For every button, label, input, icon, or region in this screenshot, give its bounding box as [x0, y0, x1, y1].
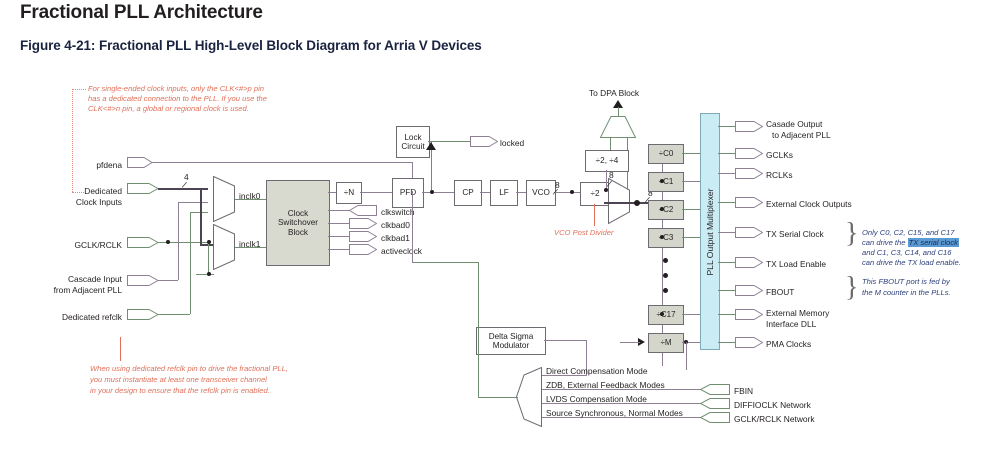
- wire-out-2: [718, 173, 736, 174]
- wire-refclk-v: [190, 212, 191, 314]
- port-clkbad0: [349, 218, 377, 229]
- label-locked: locked: [500, 138, 524, 148]
- note-counters-l4: can drive the TX load enable.: [862, 258, 961, 268]
- wire-out-3: [718, 202, 736, 203]
- lock-circuit-line1: Lock: [404, 133, 421, 143]
- port-dedicated-clock-inputs: [127, 183, 159, 194]
- wire-comp-pfd: [412, 262, 478, 263]
- port-external-memory-dll: [735, 309, 763, 320]
- wire-clkbad1: [328, 236, 350, 237]
- wire-gclk-h2: [196, 274, 214, 275]
- label-output-6: FBOUT: [766, 287, 794, 297]
- note-single-ended-line2: has a dedicated connection to the PLL. I…: [88, 94, 267, 104]
- counter-ellipsis-3: [663, 288, 668, 293]
- port-tx-load-enable: [735, 257, 763, 268]
- label-clkswitch: clkswitch: [381, 207, 415, 217]
- junction-pfd-lock: [430, 190, 434, 194]
- wire-c3-omux: [682, 237, 700, 238]
- wire-c17-omux: [682, 314, 700, 315]
- block-divide-n: ÷N: [336, 182, 362, 204]
- label-output-8: PMA Clocks: [766, 339, 811, 349]
- wire-delta-sigma: [544, 340, 586, 341]
- wire-refclk-h: [190, 212, 208, 213]
- port-cascade-output: [735, 121, 763, 132]
- block-pll-output-multiplexer: PLL Output Multiplexer: [700, 113, 720, 350]
- wire-activeclock: [328, 249, 350, 250]
- note-fbout-l2: the M counter in the PLLs.: [862, 288, 951, 298]
- label-gclk-rclk-network: GCLK/RCLK Network: [734, 414, 815, 424]
- label-clkbad1: clkbad1: [381, 233, 410, 243]
- counter-c0: ÷C0: [648, 144, 684, 164]
- label-output-3: External Clock Outputs: [766, 199, 852, 209]
- label-output-0a: Casade Output: [766, 119, 822, 129]
- clock-switchover-line3: Block: [288, 228, 308, 238]
- label-pfdena: pfdena: [60, 160, 122, 170]
- label-output-2: RCLKs: [766, 170, 793, 180]
- port-fbout: [735, 285, 763, 296]
- counter-c3: ÷C3: [648, 228, 684, 248]
- port-dedicated-refclk: [127, 309, 159, 320]
- wire-to-divn: [328, 192, 336, 193]
- port-pma-clocks: [735, 337, 763, 348]
- wire-pfd-cp: [422, 192, 454, 193]
- note-refclk-l3: in your design to ensure that the refclk…: [90, 386, 270, 396]
- port-clkbad1: [349, 231, 377, 242]
- block-cp: CP: [454, 180, 482, 206]
- output-mux-label: PLL Output Multiplexer: [705, 188, 715, 275]
- page-title: Fractional PLL Architecture: [20, 2, 263, 24]
- wire-out-4: [718, 232, 736, 233]
- label-comp-mode-2: LVDS Compensation Mode: [546, 394, 647, 404]
- port-external-clock-outputs: [735, 197, 763, 208]
- label-output-7a: External Memory: [766, 308, 829, 318]
- label-output-0b: to Adjacent PLL: [772, 130, 831, 140]
- label-dedicated-refclk: Dedicated refclk: [20, 312, 122, 322]
- port-rclks: [735, 168, 763, 179]
- wire-dedicated-h2: [200, 244, 214, 246]
- counter-c2: ÷C2: [648, 200, 684, 220]
- port-cascade-input: [127, 275, 159, 286]
- label-output-4: TX Serial Clock: [766, 229, 824, 239]
- mux-dpa: [600, 116, 636, 138]
- label-output-1: GCLKs: [766, 150, 793, 160]
- clock-switchover-line1: Clock: [288, 209, 308, 219]
- wire-comp-mux-up: [478, 262, 479, 398]
- label-cascade-input-1: Cascade Input: [20, 274, 122, 284]
- label-comp-mode-1: ZDB, External Feedback Modes: [546, 380, 665, 390]
- delta-sigma-line2: Modulator: [493, 341, 529, 351]
- wire-out-5: [718, 262, 736, 263]
- counter-m: ÷M: [648, 333, 684, 353]
- note-refclk-l1: When using dedicated refclk pin to drive…: [90, 364, 288, 374]
- clock-switchover-line2: Switchover: [278, 218, 318, 228]
- wire-locked: [428, 141, 470, 142]
- junction-c1: [660, 179, 664, 183]
- note-single-ended-line3: CLK<#>n pin, a global or regional clock …: [88, 104, 249, 114]
- mux-inclk1: [213, 224, 235, 270]
- post-divider-leader: [594, 204, 595, 226]
- label-activeclock: activeclock: [381, 246, 422, 256]
- wire-c1-omux: [682, 181, 700, 182]
- junction-gclk: [166, 240, 170, 244]
- brace-counters: }: [845, 218, 858, 250]
- port-gclks: [735, 148, 763, 159]
- port-pfdena: [127, 157, 153, 168]
- port-fbin: [700, 384, 730, 395]
- wire-out-1: [718, 153, 736, 154]
- port-activeclock: [349, 244, 377, 255]
- note-counters-prefix: can drive the: [862, 238, 908, 247]
- wire-clkswitch: [328, 210, 350, 211]
- label-comp-mode-3: Source Synchronous, Normal Modes: [546, 408, 683, 418]
- wire-c0-omux: [682, 153, 700, 154]
- note-leader-h: [72, 89, 86, 90]
- port-clkswitch: [349, 205, 377, 216]
- wire-cascade-h: [178, 202, 208, 203]
- wire-comp-mux-in: [478, 397, 518, 398]
- lock-arrow-up: [426, 142, 436, 150]
- block-diagram: For single-ended clock inputs, only the …: [0, 62, 999, 462]
- label-diffioclk: DIFFIOCLK Network: [734, 400, 811, 410]
- wire-out-6: [718, 290, 736, 291]
- block-delta-sigma-modulator: Delta Sigma Modulator: [476, 327, 546, 355]
- port-diffioclk: [700, 398, 730, 409]
- label-output-5: TX Load Enable: [766, 259, 826, 269]
- junction-vco: [570, 190, 574, 194]
- wire-comp-pfd-v: [412, 191, 413, 263]
- wire-out-8: [718, 342, 736, 343]
- block-vco: VCO: [526, 180, 556, 206]
- note-leader-v: [72, 89, 73, 192]
- note-refclk-l2: you must instantiate at least one transc…: [90, 375, 267, 385]
- note-single-ended-line1: For single-ended clock inputs, only the …: [88, 84, 264, 94]
- wire-dpa-left: [610, 138, 611, 150]
- note-vco-post-divider: VCO Post Divider: [554, 228, 614, 238]
- counter-ellipsis-2: [663, 273, 668, 278]
- note-counters-highlight: TX serial clock: [908, 238, 959, 247]
- label-to-dpa-block: To DPA Block: [589, 88, 639, 98]
- port-tx-serial-clock: [735, 227, 763, 238]
- wire-refclk: [158, 314, 190, 315]
- junction-c3: [660, 235, 664, 239]
- label-fbin: FBIN: [734, 386, 753, 396]
- label-dedicated-clock-inputs-1: Dedicated: [28, 186, 122, 196]
- wire-pfdena: [152, 162, 412, 163]
- port-gclk-rclk-network: [700, 412, 730, 423]
- label-gclk-rclk: GCLK/RCLK: [28, 240, 122, 250]
- wire-cascade-v: [178, 202, 179, 280]
- label-clkbad0: clkbad0: [381, 220, 410, 230]
- wire-cp-lf: [480, 192, 490, 193]
- junction-c17: [660, 312, 664, 316]
- note-counters-l1: Only C0, C2, C15, and C17: [862, 228, 954, 238]
- block-clock-switchover: Clock Switchover Block: [266, 180, 330, 266]
- junction-mux: [207, 240, 211, 244]
- wire-out-0: [718, 126, 736, 127]
- label-comp-mode-0: Direct Compensation Mode: [546, 366, 647, 376]
- delta-sigma-line1: Delta Sigma: [489, 332, 534, 342]
- junction-mux2: [207, 272, 211, 276]
- bottom-note-leader: [120, 337, 121, 361]
- wire-m-feedback: [686, 342, 687, 370]
- label-dedicated-clock-inputs-2: Clock Inputs: [28, 197, 122, 207]
- wire-divn-pfd: [360, 192, 392, 193]
- figure-caption: Figure 4-21: Fractional PLL High-Level B…: [20, 38, 482, 53]
- mux-compensation: [516, 367, 542, 427]
- wire-c2-omux: [682, 209, 700, 210]
- junction-c2: [660, 207, 664, 211]
- wire-clkbad0: [328, 223, 350, 224]
- wire-lf-vco: [516, 192, 526, 193]
- counter-ellipsis-1: [663, 258, 668, 263]
- note-fbout-l1: This FBOUT port is fed by: [862, 277, 950, 287]
- note-counters-l3: and C1, C3, C14, and C16: [862, 248, 952, 258]
- label-cascade-input-2: from Adjacent PLL: [20, 285, 122, 295]
- port-gclk-rclk: [127, 237, 159, 248]
- junction-bus: [634, 200, 640, 206]
- brace-fbout: }: [845, 272, 858, 304]
- block-pfd: PFD: [392, 178, 424, 208]
- counter-c17: ÷C17: [648, 305, 684, 325]
- wire-out-7: [718, 314, 736, 315]
- port-locked: [470, 136, 498, 147]
- wire-to-m: [620, 342, 640, 343]
- label-output-7b: Interface DLL: [766, 319, 816, 329]
- block-dpa-divider: ÷2, ÷4: [585, 150, 629, 172]
- wire-dedicated-v: [200, 188, 202, 244]
- wire-dpa-bus: [604, 202, 634, 204]
- mux-inclk0: [213, 176, 235, 222]
- counter-c1: ÷C1: [648, 172, 684, 192]
- block-lf: LF: [490, 180, 518, 206]
- wire-cascade: [158, 280, 178, 281]
- note-counters-l2: can drive the TX serial clock: [862, 238, 959, 248]
- block-lock-circuit: Lock Circuit: [396, 126, 430, 158]
- lock-circuit-line2: Circuit: [401, 142, 424, 152]
- wire-gclk-v: [208, 242, 209, 274]
